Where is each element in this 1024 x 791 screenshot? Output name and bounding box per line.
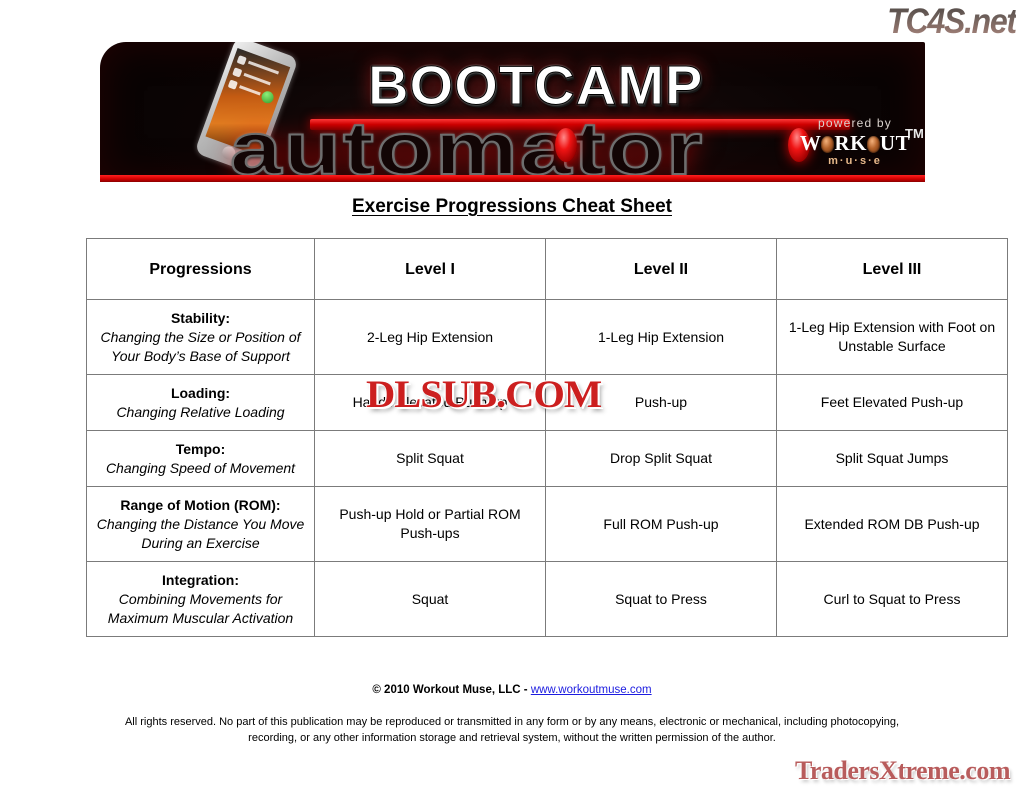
level-1-cell: Hands Elevated Push-up [315,375,546,431]
logo-ball-one-icon [821,136,834,153]
progression-name: Loading: [95,384,306,403]
progression-cell: Tempo: Changing Speed of Movement [87,431,315,487]
logo-ball-two-icon [867,136,880,153]
footer-copyright-text: © 2010 Workout Muse, LLC - [372,684,530,696]
banner-red-bar [100,175,925,182]
progression-description: Changing the Size or Position of Your Bo… [95,328,306,366]
bootcamp-automator-banner: BOOTCAMP automator TM powered by WRKUT m… [100,42,925,182]
level-2-cell: Full ROM Push-up [546,487,777,562]
table-row: Loading: Changing Relative Loading Hands… [87,375,1008,431]
exercise-progressions-table: Progressions Level I Level II Level III … [86,238,1008,637]
level-3-cell: 1-Leg Hip Extension with Foot on Unstabl… [777,300,1008,375]
progression-name: Tempo: [95,440,306,459]
powered-by-label: powered by [799,116,911,130]
progression-cell: Stability: Changing the Size or Position… [87,300,315,375]
level-3-cell: Curl to Squat to Press [777,562,1008,637]
footer-rights-text: All rights reserved. No part of this pub… [100,714,924,746]
level-3-cell: Split Squat Jumps [777,431,1008,487]
level-2-cell: 1-Leg Hip Extension [546,300,777,375]
tradersxtreme-watermark: TradersXtreme.com [795,756,1010,786]
level-1-cell: Squat [315,562,546,637]
workoutmuse-link[interactable]: www.workoutmuse.com [531,684,652,696]
page-title: Exercise Progressions Cheat Sheet [0,196,1024,218]
table-header-level-2: Level II [546,239,777,300]
table-header-level-1: Level I [315,239,546,300]
table-header-progressions: Progressions [87,239,315,300]
progression-name: Stability: [95,309,306,328]
level-1-cell: Push-up Hold or Partial ROM Push-ups [315,487,546,562]
level-1-cell: Split Squat [315,431,546,487]
footer-copyright: © 2010 Workout Muse, LLC - www.workoutmu… [0,684,1024,696]
banner-automator-text: automator [230,112,705,182]
level-1-cell: 2-Leg Hip Extension [315,300,546,375]
level-2-cell: Squat to Press [546,562,777,637]
level-2-cell: Push-up [546,375,777,431]
powered-by-block: powered by WRKUT m·u·s·e [799,116,911,167]
table-row: Integration: Combining Movements for Max… [87,562,1008,637]
banner-bootcamp-text: BOOTCAMP [368,56,703,114]
table-header-level-3: Level III [777,239,1008,300]
level-3-cell: Extended ROM DB Push-up [777,487,1008,562]
table-row: Stability: Changing the Size or Position… [87,300,1008,375]
table-header-row: Progressions Level I Level II Level III [87,239,1008,300]
progression-cell: Loading: Changing Relative Loading [87,375,315,431]
progression-description: Changing the Distance You Move During an… [95,515,306,553]
progression-name: Integration: [95,571,306,590]
table-row: Tempo: Changing Speed of Movement Split … [87,431,1008,487]
progression-name: Range of Motion (ROM): [95,496,306,515]
progression-cell: Range of Motion (ROM): Changing the Dist… [87,487,315,562]
progression-description: Changing Speed of Movement [95,459,306,478]
level-2-cell: Drop Split Squat [546,431,777,487]
progression-description: Changing Relative Loading [95,403,306,422]
workout-muse-logo: WRKUT [799,132,911,154]
workout-muse-logo-text: W [800,131,822,155]
level-3-cell: Feet Elevated Push-up [777,375,1008,431]
tc4s-watermark: TC4S.net [887,2,1016,42]
progression-cell: Integration: Combining Movements for Max… [87,562,315,637]
workout-muse-subtext: m·u·s·e [799,155,911,167]
progression-description: Combining Movements for Maximum Muscular… [95,590,306,628]
automator-bead-one-icon [555,128,577,162]
table-row: Range of Motion (ROM): Changing the Dist… [87,487,1008,562]
